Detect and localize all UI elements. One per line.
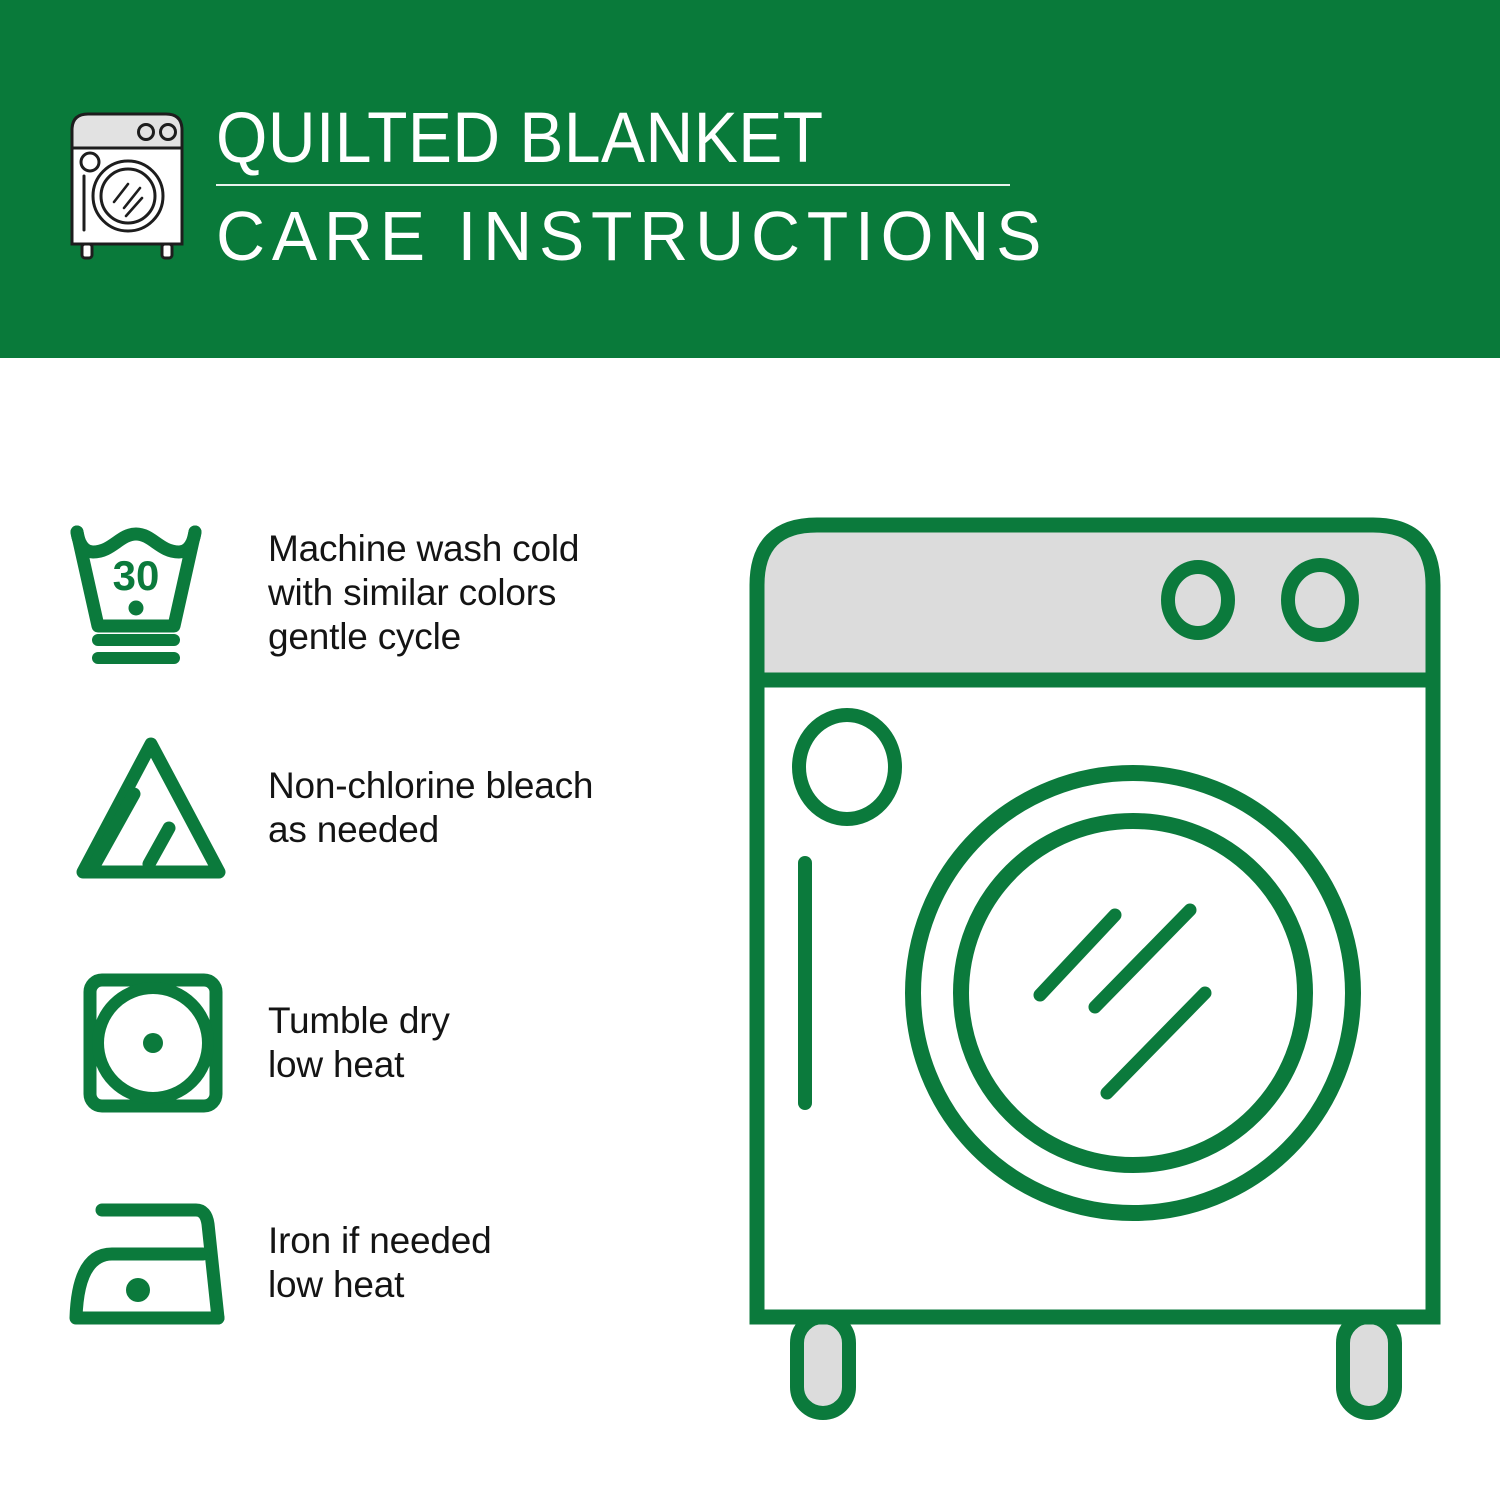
page-subtitle: CARE INSTRUCTIONS [216, 198, 992, 274]
header-banner: QUILTED BLANKET CARE INSTRUCTIONS [0, 0, 1500, 358]
knob-icon [1288, 565, 1352, 635]
iron-low-heat-icon [62, 1178, 244, 1348]
washing-machine-illustration [735, 495, 1455, 1425]
list-item-label: Machine wash cold with similar colors ge… [268, 527, 579, 659]
list-item: 30 Machine wash cold with similar colors… [0, 508, 740, 678]
title-divider [216, 184, 1010, 186]
machine-leg [1343, 1317, 1395, 1413]
list-item-label: Iron if needed low heat [268, 1219, 491, 1307]
knob-icon [1168, 567, 1228, 633]
page-title: QUILTED BLANKET [216, 100, 960, 178]
washing-machine-icon [62, 104, 192, 264]
door-inner-ring [961, 821, 1305, 1165]
list-item-label: Tumble dry low heat [268, 999, 450, 1087]
tumble-dry-low-icon [62, 958, 244, 1128]
wash-temperature-label: 30 [112, 552, 159, 599]
list-item-label: Non-chlorine bleach as needed [268, 764, 593, 852]
indicator-circle-icon [799, 715, 895, 819]
machine-wash-30-icon: 30 [62, 508, 244, 678]
list-item: Non-chlorine bleach as needed [0, 723, 740, 893]
care-instructions-infographic: QUILTED BLANKET CARE INSTRUCTIONS [0, 0, 1500, 1500]
header-text-block: QUILTED BLANKET CARE INSTRUCTIONS [216, 100, 1016, 274]
care-instruction-list: 30 Machine wash cold with similar colors… [0, 358, 740, 1500]
machine-leg [797, 1317, 849, 1413]
list-item: Iron if needed low heat [0, 1178, 740, 1348]
list-item: Tumble dry low heat [0, 958, 740, 1128]
non-chlorine-bleach-icon [62, 723, 244, 893]
